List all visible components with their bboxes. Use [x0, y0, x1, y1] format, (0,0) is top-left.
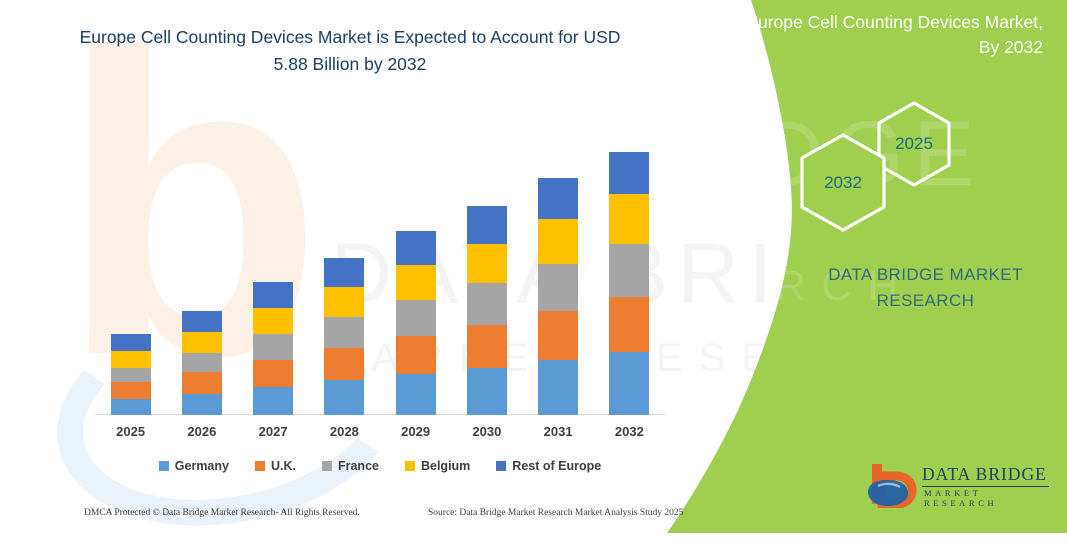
legend-label: Rest of Europe — [512, 459, 601, 473]
logo-divider — [922, 486, 1049, 487]
bar-segment-rest-of-europe — [538, 178, 578, 219]
legend-item-france[interactable]: France — [322, 459, 379, 473]
bar-segment-belgium — [609, 194, 649, 244]
legend-swatch-icon — [496, 461, 506, 471]
legend-swatch-icon — [322, 461, 332, 471]
bar-segment-u-k — [253, 360, 293, 387]
bar-segment-rest-of-europe — [396, 231, 436, 265]
legend-label: Germany — [175, 459, 229, 473]
bar-2026 — [182, 311, 222, 415]
bar-segment-belgium — [538, 219, 578, 264]
bar-segment-rest-of-europe — [324, 258, 364, 287]
x-axis-label-2030: 2030 — [452, 424, 522, 439]
bar-segment-france — [538, 264, 578, 311]
bar-segment-rest-of-europe — [182, 311, 222, 332]
bar-segment-rest-of-europe — [253, 282, 293, 308]
hexagon-2032: 2032 — [798, 132, 888, 234]
bar-segment-belgium — [324, 287, 364, 317]
infographic-page: b DATA BRIDGE MARKET RESEARCH Europe Cel… — [0, 0, 1067, 533]
databridge-logo: DATA BRIDGE MARKET RESEARCH — [866, 462, 1056, 510]
bar-segment-rest-of-europe — [467, 206, 507, 244]
legend-swatch-icon — [159, 461, 169, 471]
bar-segment-germany — [467, 368, 507, 415]
bar-segment-u-k — [609, 297, 649, 352]
bar-segment-u-k — [111, 382, 151, 399]
legend-item-germany[interactable]: Germany — [159, 459, 229, 473]
legend-item-rest-of-europe[interactable]: Rest of Europe — [496, 459, 601, 473]
bar-segment-france — [253, 334, 293, 360]
bar-segment-france — [609, 244, 649, 297]
bar-2030 — [467, 206, 507, 415]
legend-label: Belgium — [421, 459, 470, 473]
legend-swatch-icon — [405, 461, 415, 471]
legend-item-belgium[interactable]: Belgium — [405, 459, 470, 473]
bar-2027 — [253, 282, 293, 415]
x-axis-label-2026: 2026 — [167, 424, 237, 439]
logo-subtitle: MARKET RESEARCH — [924, 488, 1056, 508]
bar-segment-germany — [111, 399, 151, 415]
bar-segment-france — [396, 300, 436, 336]
bar-segment-france — [182, 353, 222, 372]
bar-segment-germany — [609, 352, 649, 415]
panel-title: Europe Cell Counting Devices Market, By … — [743, 10, 1043, 60]
bar-segment-france — [467, 283, 507, 325]
bar-segment-u-k — [538, 311, 578, 360]
x-axis-label-2032: 2032 — [594, 424, 664, 439]
bar-segment-france — [324, 317, 364, 348]
bar-segment-belgium — [182, 332, 222, 353]
bar-2031 — [538, 178, 578, 415]
x-axis-label-2025: 2025 — [96, 424, 166, 439]
footer-copyright: DMCA Protected © Data Bridge Market Rese… — [84, 508, 360, 518]
hexagon-2025-label: 2025 — [895, 134, 933, 154]
legend-label: France — [338, 459, 379, 473]
bar-segment-u-k — [396, 336, 436, 374]
bar-segment-germany — [182, 394, 222, 415]
bar-segment-belgium — [253, 308, 293, 334]
x-axis-label-2028: 2028 — [309, 424, 379, 439]
footer-source: Source: Data Bridge Market Research Mark… — [428, 508, 683, 518]
bar-segment-germany — [253, 387, 293, 415]
bar-2032 — [609, 152, 649, 415]
bar-segment-germany — [396, 374, 436, 415]
right-green-panel: RIDGE SEARCH Europe Cell Counting Device… — [667, 0, 1067, 533]
bar-segment-belgium — [467, 244, 507, 283]
legend-swatch-icon — [255, 461, 265, 471]
bar-segment-france — [111, 368, 151, 382]
legend-item-u-k[interactable]: U.K. — [255, 459, 296, 473]
chart-title: Europe Cell Counting Devices Market is E… — [70, 24, 630, 78]
bar-segment-germany — [538, 360, 578, 415]
bar-2029 — [396, 231, 436, 415]
x-axis-label-2031: 2031 — [523, 424, 593, 439]
hexagon-2032-label: 2032 — [824, 173, 862, 193]
x-axis-label-2027: 2027 — [238, 424, 308, 439]
bar-segment-u-k — [467, 325, 507, 368]
x-axis-label-2029: 2029 — [381, 424, 451, 439]
x-axis-labels: 20252026202720282029203020312032 — [95, 424, 665, 446]
chart-legend: GermanyU.K.FranceBelgiumRest of Europe — [95, 455, 665, 477]
legend-label: U.K. — [271, 459, 296, 473]
bar-segment-belgium — [396, 265, 436, 300]
stacked-bar-chart — [95, 140, 665, 415]
bar-segment-u-k — [182, 372, 222, 394]
bar-segment-belgium — [111, 351, 151, 368]
logo-title: DATA BRIDGE — [922, 464, 1047, 485]
bar-segment-rest-of-europe — [111, 334, 151, 351]
panel-brand-text: DATA BRIDGE MARKET RESEARCH — [803, 262, 1048, 314]
bar-segment-u-k — [324, 348, 364, 380]
bar-segment-rest-of-europe — [609, 152, 649, 194]
bar-segment-germany — [324, 380, 364, 415]
databridge-b-mark-icon — [866, 462, 918, 508]
bar-2028 — [324, 258, 364, 415]
bar-2025 — [111, 334, 151, 415]
